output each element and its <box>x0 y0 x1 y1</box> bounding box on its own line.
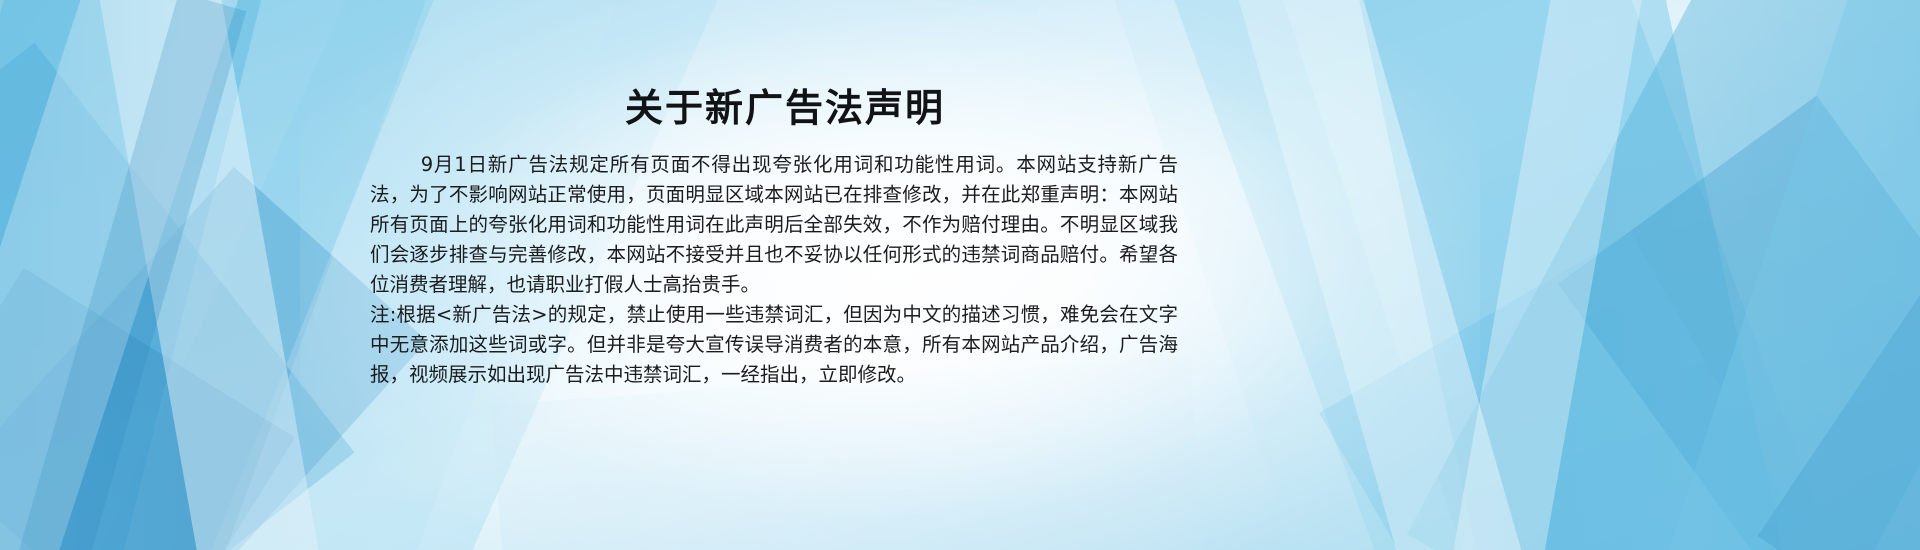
advertising-law-statement-banner: 关于新广告法声明 9月1日新广告法规定所有页面不得出现夸张化用词和功能性用词。本… <box>0 0 1920 550</box>
statement-paragraph-main: 9月1日新广告法规定所有页面不得出现夸张化用词和功能性用词。本网站支持新广告法，… <box>370 150 1178 300</box>
statement-body: 9月1日新广告法规定所有页面不得出现夸张化用词和功能性用词。本网站支持新广告法，… <box>370 150 1178 390</box>
statement-paragraph-note: 注:根据<新广告法>的规定，禁止使用一些违禁词汇，但因为中文的描述习惯，难免会在… <box>370 300 1178 390</box>
statement-content: 关于新广告法声明 9月1日新广告法规定所有页面不得出现夸张化用词和功能性用词。本… <box>0 0 1920 550</box>
page-title: 关于新广告法声明 <box>0 86 1570 132</box>
